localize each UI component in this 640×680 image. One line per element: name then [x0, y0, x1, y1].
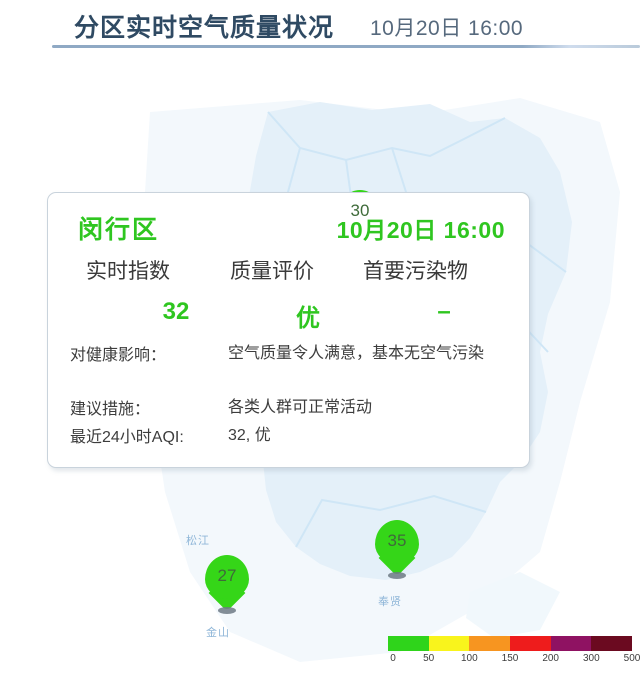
page-title: 分区实时空气质量状况: [74, 8, 334, 44]
legend-segment-4: [551, 636, 592, 651]
detail-value-health: 空气质量令人满意，基本无空气污染: [228, 341, 518, 366]
pin-shadow-icon: [388, 572, 406, 579]
card-column-headers: 实时指数 质量评价 首要污染物: [48, 255, 531, 285]
column-header-pollutant: 首要污染物: [363, 255, 468, 285]
pin-value: 30: [338, 190, 382, 232]
pin-shadow-icon: [218, 607, 236, 614]
detail-row-health: 对健康影响： 空气质量令人满意，基本无空气污染: [48, 341, 531, 393]
legend-segment-2: [469, 636, 510, 651]
header-datetime: 10月20日 16:00: [370, 12, 523, 42]
detail-label-health: 对健康影响：: [70, 341, 166, 365]
legend-tick-150: 150: [502, 653, 519, 664]
legend-tick-labels: 050100150200300500: [388, 653, 632, 669]
map-label-songjiang: 松江: [186, 532, 210, 548]
legend-segment-0: [388, 636, 429, 651]
air-quality-map-page: 分区实时空气质量状况 10月20日 16:00: [0, 0, 640, 680]
detail-value-advice: 各类人群可正常活动: [228, 395, 518, 420]
legend-color-bar: [388, 636, 632, 651]
pin-value: 27: [205, 555, 249, 597]
district-info-card[interactable]: 闵行区 10月20日 16:00 实时指数 质量评价 首要污染物 32 优 – …: [47, 192, 530, 468]
legend-tick-200: 200: [542, 653, 559, 664]
legend-tick-500: 500: [624, 653, 640, 664]
legend-tick-100: 100: [461, 653, 478, 664]
column-header-quality: 质量评价: [230, 255, 314, 285]
legend-tick-50: 50: [423, 653, 434, 664]
legend-tick-0: 0: [390, 653, 396, 664]
detail-row-advice: 建议措施： 各类人群可正常活动: [48, 395, 531, 421]
card-district-name: 闵行区: [78, 210, 159, 246]
legend-tick-300: 300: [583, 653, 600, 664]
value-pollutant: –: [416, 298, 472, 326]
card-column-values: 32 优 –: [48, 298, 531, 330]
map-marker-35[interactable]: 35: [375, 520, 419, 580]
map-label-jinshan: 金山: [206, 624, 230, 640]
aqi-legend: 050100150200300500: [388, 636, 632, 672]
detail-label-advice: 建议措施：: [70, 395, 150, 419]
page-header: 分区实时空气质量状况 10月20日 16:00: [0, 0, 640, 52]
value-quality: 优: [276, 298, 340, 333]
map-label-fengxian: 奉贤: [378, 593, 402, 609]
column-header-index: 实时指数: [86, 255, 170, 285]
header-divider: [52, 45, 640, 48]
map-marker-27[interactable]: 27: [205, 555, 249, 615]
value-index: 32: [136, 298, 216, 326]
pin-value: 35: [375, 520, 419, 562]
legend-segment-3: [510, 636, 551, 651]
legend-segment-1: [429, 636, 470, 651]
detail-label-aqi24: 最近24小时AQI:: [70, 423, 184, 447]
detail-value-aqi24: 32, 优: [228, 423, 518, 448]
detail-row-aqi24: 最近24小时AQI: 32, 优: [48, 423, 531, 449]
card-detail-rows: 对健康影响： 空气质量令人满意，基本无空气污染 建议措施： 各类人群可正常活动 …: [48, 341, 531, 451]
legend-segment-5: [591, 636, 632, 651]
